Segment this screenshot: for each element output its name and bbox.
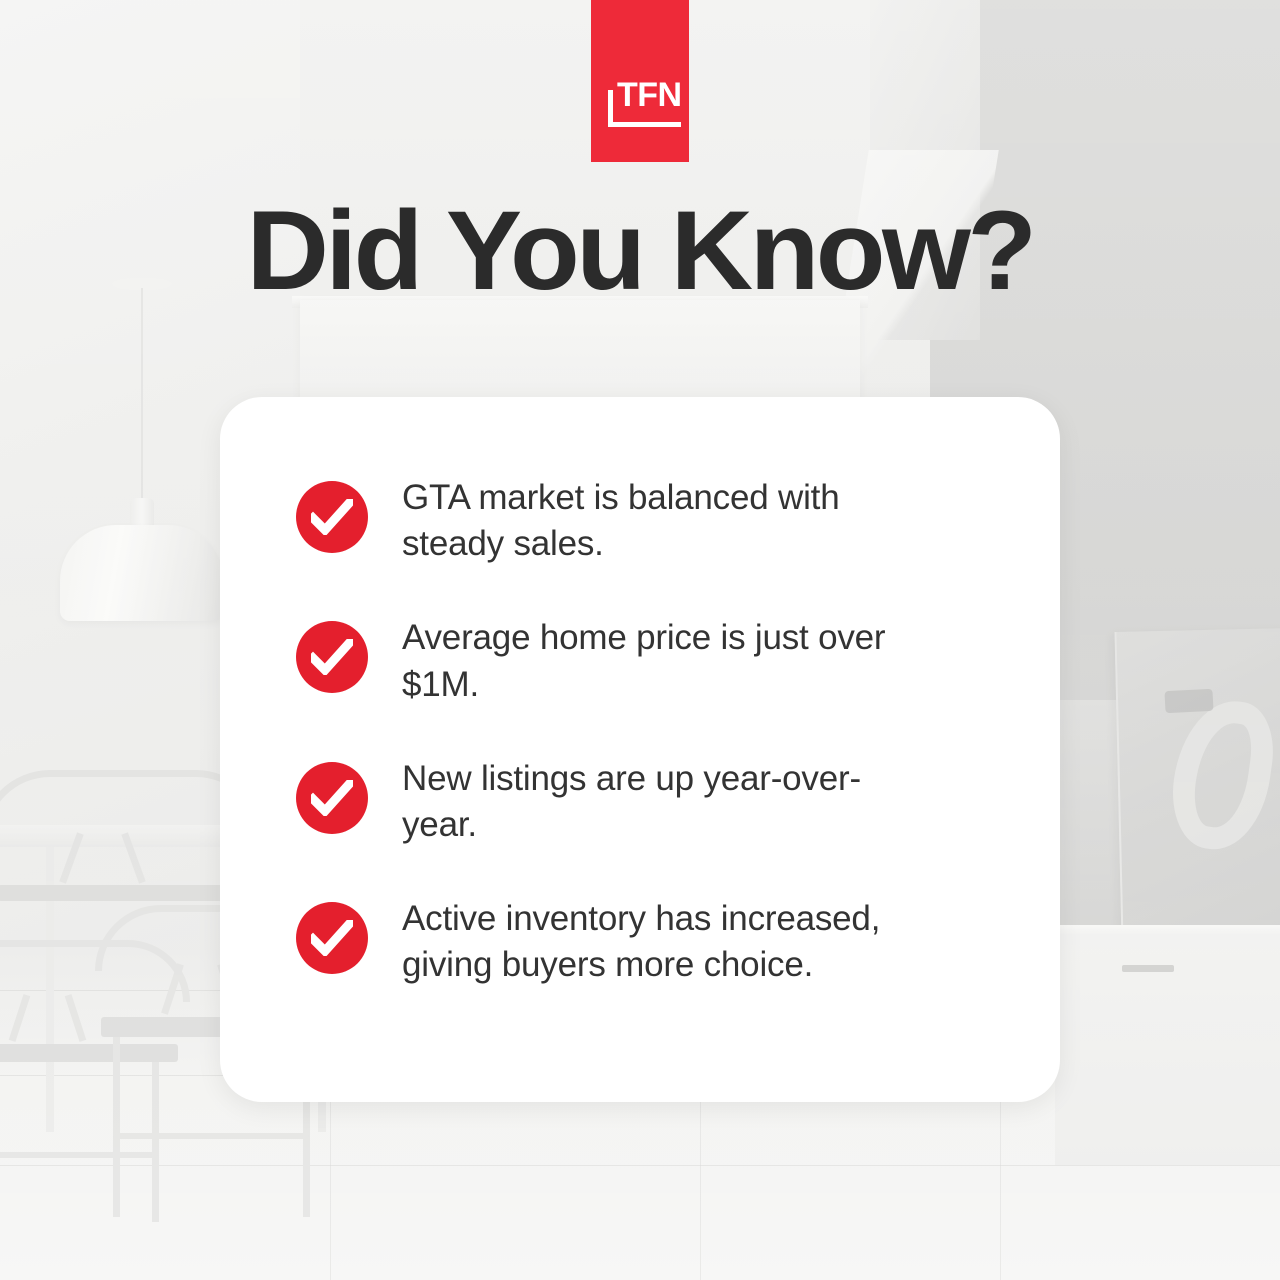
check-circle-icon [296,762,368,834]
fact-text: Average home price is just over $1M. [402,615,907,707]
bracket-horizontal-icon [608,122,681,127]
tfn-logo-mark: TFN [591,0,689,162]
page-title: Did You Know? [0,195,1280,307]
facts-list: GTA market is balanced with steady sales… [296,475,990,989]
content-layer: TFN Did You Know? GTA market is balanced… [0,0,1280,1280]
tfn-logo-text: TFN [617,78,682,112]
fact-item: Active inventory has increased, giving b… [296,896,990,988]
check-circle-icon [296,481,368,553]
fact-item: New listings are up year-over-year. [296,756,990,848]
fact-item: Average home price is just over $1M. [296,615,990,707]
fact-text: GTA market is balanced with steady sales… [402,475,907,567]
fact-text: Active inventory has increased, giving b… [402,896,907,988]
check-circle-icon [296,902,368,974]
tfn-logo: TFN [591,0,689,162]
fact-text: New listings are up year-over-year. [402,756,907,848]
fact-item: GTA market is balanced with steady sales… [296,475,990,567]
check-circle-icon [296,621,368,693]
facts-card: GTA market is balanced with steady sales… [220,397,1060,1102]
